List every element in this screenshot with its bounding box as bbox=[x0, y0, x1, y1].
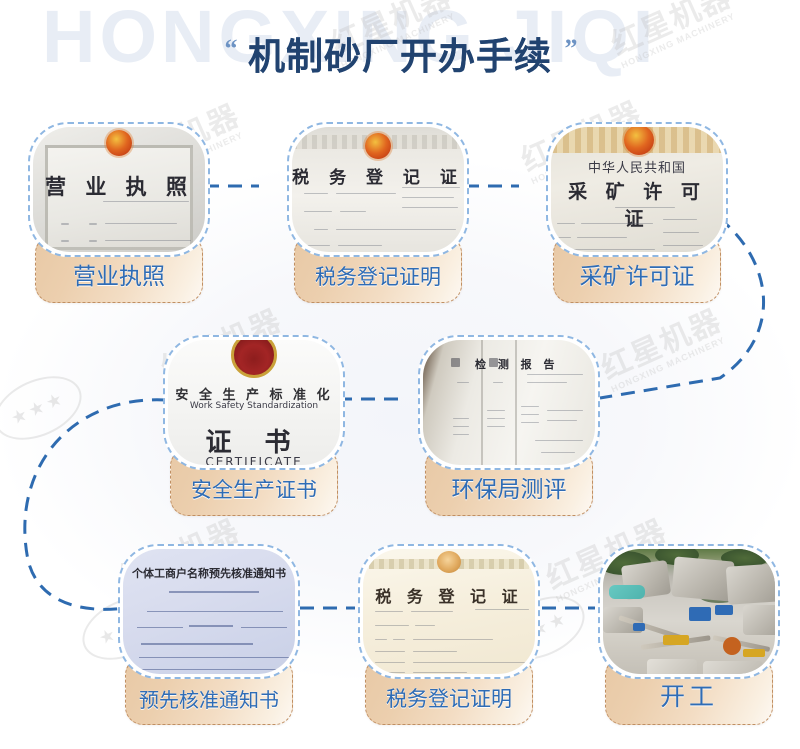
step-photo-frame: 个体工商户名称预先核准通知书 bbox=[118, 544, 300, 679]
step-photo-frame: 营 业 执 照 bbox=[28, 122, 210, 257]
flow-step-card[interactable]: 中华人民共和国 采 矿 许 可 证 采矿许可证 bbox=[546, 122, 728, 303]
doc-title: 税 务 登 记 证 bbox=[363, 583, 535, 607]
step-label-text: 营业执照 bbox=[73, 257, 165, 291]
step-label-text: 税务登记证明 bbox=[315, 261, 441, 291]
step-photo-frame: 安 全 生 产 标 准 化 Work Safety Standardizatio… bbox=[163, 335, 345, 470]
step-photo: 检 测 报 告 bbox=[423, 340, 595, 465]
brand-watermark-en: HONGXING MACHINERY bbox=[610, 334, 731, 394]
step-photo-frame: 税 务 登 记 证 bbox=[287, 122, 469, 257]
step-label-text: 税务登记证明 bbox=[386, 683, 512, 713]
national-emblem-icon bbox=[365, 133, 391, 159]
quote-close-icon: ” bbox=[564, 34, 575, 64]
doc-subtitle-en: Work Safety Standardization bbox=[168, 401, 340, 411]
seal-watermark-icon: ★★★ bbox=[0, 364, 91, 453]
step-photo: 安 全 生 产 标 准 化 Work Safety Standardizatio… bbox=[168, 340, 340, 465]
doc-title: 检 测 报 告 bbox=[475, 356, 595, 372]
step-photo-frame: 检 测 报 告 bbox=[418, 335, 600, 470]
step-photo-frame: 中华人民共和国 采 矿 许 可 证 bbox=[546, 122, 728, 257]
step-photo: 税 务 登 记 证 bbox=[292, 127, 464, 252]
national-emblem-icon bbox=[624, 127, 654, 155]
step-photo: 营 业 执 照 bbox=[33, 127, 205, 252]
step-photo-frame bbox=[598, 544, 780, 679]
step-photo bbox=[603, 549, 775, 674]
flow-step-card[interactable]: 开工 bbox=[598, 544, 780, 725]
step-photo-frame: 税 务 登 记 证 bbox=[358, 544, 540, 679]
doc-title: 营 业 执 照 bbox=[33, 171, 205, 201]
brand-watermark: 红星机器 HONGXING MACHINERY bbox=[597, 306, 730, 395]
doc-footer-en: CERTIFICATE bbox=[168, 455, 340, 465]
page-title-text: 机制砂厂开办手续 bbox=[248, 26, 552, 80]
national-emblem-icon bbox=[106, 130, 132, 156]
page-title: “ 机制砂厂开办手续 ” bbox=[0, 26, 800, 80]
flow-step-card[interactable]: 检 测 报 告 bbox=[418, 335, 600, 516]
flow-step-card[interactable]: 税 务 登 记 证 税务登记 bbox=[358, 544, 540, 725]
step-label-text: 采矿许可证 bbox=[580, 257, 695, 291]
step-label-text: 开工 bbox=[660, 677, 718, 713]
step-photo: 税 务 登 记 证 bbox=[363, 549, 535, 674]
step-photo: 个体工商户名称预先核准通知书 bbox=[123, 549, 295, 674]
quote-open-icon: “ bbox=[225, 34, 236, 64]
step-label-text: 环保局测评 bbox=[452, 470, 567, 504]
step-label-text: 安全生产证书 bbox=[191, 474, 317, 504]
doc-title: 证 书 bbox=[168, 422, 340, 459]
flow-step-card[interactable]: 营 业 执 照 营业执照 bbox=[28, 122, 210, 303]
doc-title: 税 务 登 记 证 bbox=[292, 163, 464, 188]
flow-step-card[interactable]: 个体工商户名称预先核准通知书 预先核准通知书 bbox=[118, 544, 300, 725]
doc-title: 个体工商户名称预先核准通知书 bbox=[123, 565, 295, 581]
step-label-text: 预先核准通知书 bbox=[139, 684, 279, 713]
flow-step-card[interactable]: 安 全 生 产 标 准 化 Work Safety Standardizatio… bbox=[163, 335, 345, 516]
flow-step-card[interactable]: 税 务 登 记 证 税务登记证明 bbox=[287, 122, 469, 303]
infographic-page: HONGXING JIQI 红星机器 HONGXING MACHINERY 红星… bbox=[0, 0, 800, 749]
brand-watermark-cn: 红星机器 bbox=[597, 306, 726, 385]
step-photo: 中华人民共和国 采 矿 许 可 证 bbox=[551, 127, 723, 252]
doc-header: 中华人民共和国 bbox=[551, 157, 723, 176]
